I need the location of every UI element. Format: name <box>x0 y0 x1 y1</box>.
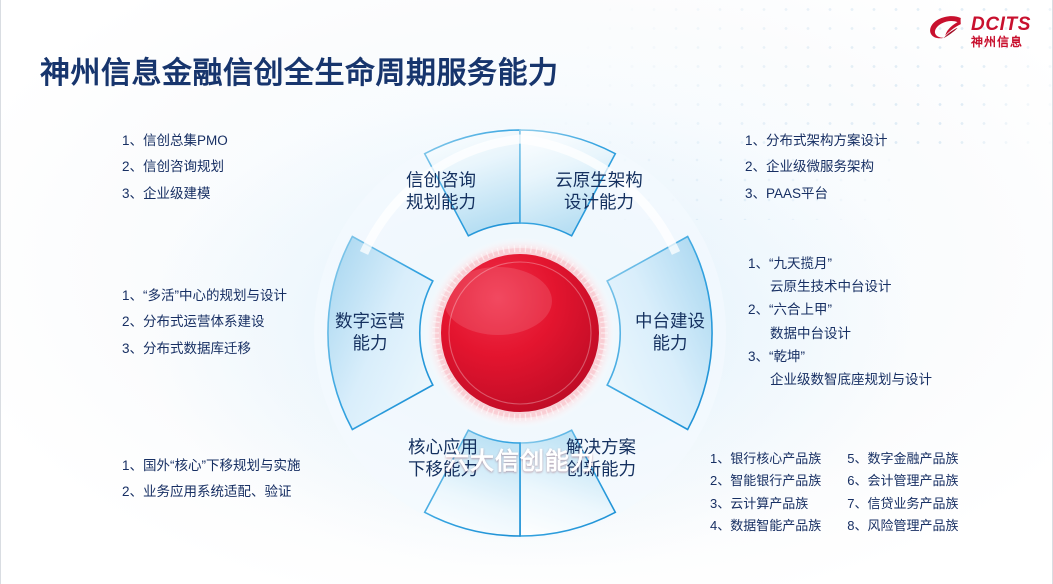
wheel-label-line1: 云原生架构 <box>524 169 674 191</box>
page-title: 神州信息金融信创全生命周期服务能力 <box>40 48 559 92</box>
list-item: 3、企业级建模 <box>122 181 228 207</box>
list-item: 1、分布式架构方案设计 <box>745 128 888 154</box>
wheel-label-line1: 数字运营 <box>318 310 422 332</box>
detail-list-middle-right: 1、“九天揽月” 云原生技术中台设计 2、“六合上甲” 数据中台设计 3、“乾坤… <box>748 252 932 391</box>
logo-text-cn: 神州信息 <box>971 36 1031 48</box>
list-item: 5、数字金融产品族 <box>847 448 958 470</box>
list-item: 1、“多活”中心的规划与设计 <box>122 283 287 309</box>
list-item: 2、信创咨询规划 <box>122 154 228 180</box>
list-item: 3、分布式数据库迁移 <box>122 336 287 362</box>
list-item-sub: 数据中台设计 <box>748 322 932 345</box>
wheel-label-line1: 中台建设 <box>618 310 722 332</box>
detail-list-top-right: 1、分布式架构方案设计 2、企业级微服务架构 3、PAAS平台 <box>745 128 888 207</box>
canvas-left-border <box>0 0 1 584</box>
detail-list-bottom-left: 1、国外“核心”下移规划与实施 2、业务应用系统适配、验证 <box>122 453 301 506</box>
list-item-sub: 企业级数智底座规划与设计 <box>748 368 932 391</box>
wheel-center-label: 六大信创能力 <box>312 441 728 476</box>
list-item: 2、“六合上甲” <box>748 298 932 321</box>
detail-list-top-left: 1、信创总集PMO 2、信创咨询规划 3、企业级建模 <box>122 128 228 207</box>
list-item: 1、“九天揽月” <box>748 252 932 275</box>
list-item: 2、分布式运营体系建设 <box>122 309 287 335</box>
wheel-label-line1: 信创咨询 <box>366 169 516 191</box>
center-specular-highlight <box>444 267 552 335</box>
list-item: 2、业务应用系统适配、验证 <box>122 479 301 505</box>
logo-text-en: DCITS <box>971 15 1031 34</box>
wheel-label-line2: 规划能力 <box>366 191 516 213</box>
detail-list-bottom-right: 1、银行核心产品族 2、智能银行产品族 3、云计算产品族 4、数据智能产品族 5… <box>710 448 958 537</box>
wheel-label-cloud-native: 云原生架构 设计能力 <box>524 169 674 214</box>
detail-list-middle-left: 1、“多活”中心的规划与设计 2、分布式运营体系建设 3、分布式数据库迁移 <box>122 283 287 362</box>
list-item: 7、信贷业务产品族 <box>847 493 958 515</box>
list-item-sub: 云原生技术中台设计 <box>748 275 932 298</box>
list-item: 6、会计管理产品族 <box>847 470 958 492</box>
brand-logo: DCITS 神州信息 <box>928 14 1031 48</box>
list-item: 8、风险管理产品族 <box>847 515 958 537</box>
product-family-column-2: 5、数字金融产品族 6、会计管理产品族 7、信贷业务产品族 8、风险管理产品族 <box>847 448 958 537</box>
list-item: 3、“乾坤” <box>748 345 932 368</box>
wheel-label-consulting: 信创咨询 规划能力 <box>366 169 516 214</box>
wheel-label-line2: 设计能力 <box>524 191 674 213</box>
list-item: 1、信创总集PMO <box>122 128 228 154</box>
capability-wheel-diagram: 信创咨询 规划能力 云原生架构 设计能力 中台建设 能力 解决方案 创新能力 核… <box>312 125 728 541</box>
list-item: 1、国外“核心”下移规划与实施 <box>122 453 301 479</box>
wheel-label-midplatform: 中台建设 能力 <box>618 310 722 355</box>
wheel-label-line2: 能力 <box>318 332 422 354</box>
list-item: 3、PAAS平台 <box>745 181 888 207</box>
wheel-label-line2: 能力 <box>618 332 722 354</box>
wheel-label-digital-ops: 数字运营 能力 <box>318 310 422 355</box>
list-item: 2、企业级微服务架构 <box>745 154 888 180</box>
slide-canvas: DCITS 神州信息 神州信息金融信创全生命周期服务能力 1、信创总集PMO 2… <box>0 0 1053 584</box>
dcits-swoosh-icon <box>928 14 964 48</box>
